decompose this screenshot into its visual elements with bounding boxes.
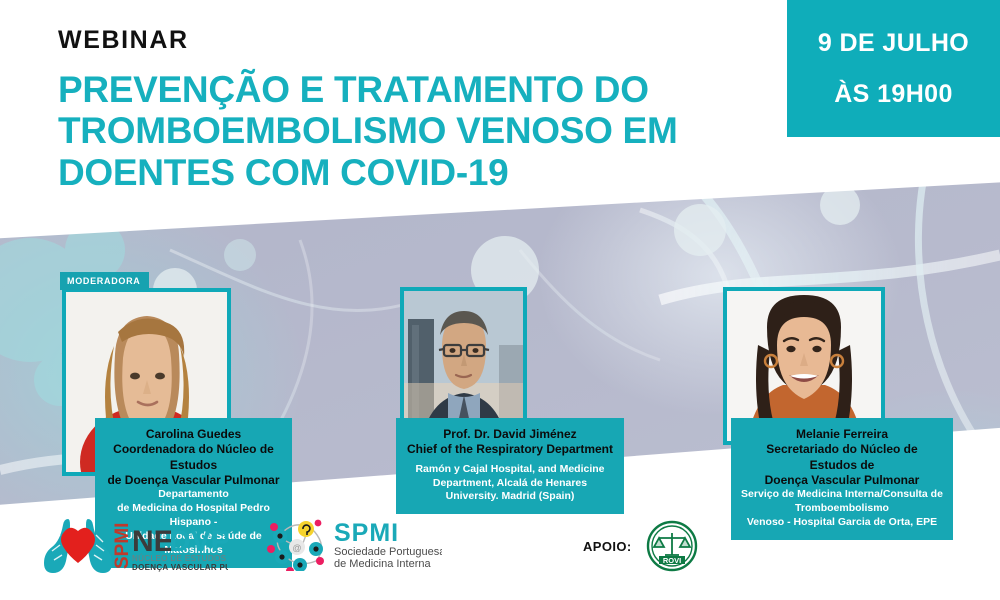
moderadora-badge: MODERADORA	[60, 272, 149, 290]
spmi-tagline-1: Sociedade Portuguesa	[334, 546, 442, 558]
speaker-affiliation-line-3: University. Madrid (Spain)	[406, 490, 614, 504]
speaker-affiliation-line-1: Departamento	[105, 488, 282, 502]
rovi-wordmark: ROVI	[662, 556, 680, 565]
headline-block: WEBINAR PREVENÇÃO E TRATAMENTO DO TROMBO…	[58, 28, 778, 193]
speaker-name: Prof. Dr. David Jiménez	[406, 427, 614, 442]
event-time: ÀS 19H00	[834, 82, 953, 107]
speaker-role-line-1: Secretariado do Núcleo de Estudos de	[741, 442, 943, 473]
speaker-name: Melanie Ferreira	[741, 427, 943, 442]
logo-rovi: ROVI	[646, 520, 698, 572]
apoio-label: APOIO:	[583, 539, 632, 554]
nedvp-tagline-2: DOENÇA VASCULAR PULMONAR	[132, 563, 228, 572]
event-date: 9 DE JULHO	[818, 31, 969, 56]
logo-spmi: @ SPMI Sociedade Portuguesa de Medicina …	[262, 515, 442, 576]
svg-text:@: @	[292, 543, 301, 553]
kicker-label: WEBINAR	[58, 28, 778, 53]
title-line-1: PREVENÇÃO E TRATAMENTO DO	[58, 69, 778, 110]
title-line-2: TROMBOEMBOLISMO VENOSO EM	[58, 110, 778, 151]
spmi-network-icon: @	[267, 520, 324, 571]
logo-nedvp: SPMI NE DVP NÚCLEO DE ESTUDOS DE DOENÇA …	[32, 513, 228, 580]
speaker-affiliation-line-1: Serviço de Medicina Interna/Consulta de	[741, 488, 943, 502]
speaker-affiliation-line-1: Ramón y Cajal Hospital, and Medicine	[406, 463, 614, 477]
speaker-role-line-2: de Doença Vascular Pulmonar	[105, 473, 282, 488]
spmi-acronym: SPMI	[334, 519, 399, 547]
apoio-section: APOIO: ROVI	[583, 520, 698, 572]
speaker-info-david-jimenez: Prof. Dr. David Jiménez Chief of the Res…	[396, 418, 624, 514]
speaker-role-line-2: Doença Vascular Pulmonar	[741, 473, 943, 488]
spmi-tagline-2: de Medicina Interna	[334, 558, 431, 570]
speaker-role-line-1: Coordenadora do Núcleo de Estudos	[105, 442, 282, 473]
title-line-3: DOENTES COM COVID-19	[58, 152, 778, 193]
nedvp-vertical-spmi-text: SPMI	[112, 523, 133, 569]
footer-logos-bar: SPMI NE DVP NÚCLEO DE ESTUDOS DE DOENÇA …	[0, 508, 1000, 600]
speaker-name: Carolina Guedes	[105, 427, 282, 442]
speaker-affiliation-line-2: Department, Alcalá de Henares	[406, 477, 614, 491]
lungs-heart-icon	[44, 519, 112, 573]
page-title: PREVENÇÃO E TRATAMENTO DO TROMBOEMBOLISM…	[58, 69, 778, 193]
date-time-badge: 9 DE JULHO ÀS 19H00	[787, 0, 1000, 137]
webinar-poster: WEBINAR PREVENÇÃO E TRATAMENTO DO TROMBO…	[0, 0, 1000, 600]
speaker-role-line-1: Chief of the Respiratory Department	[406, 442, 614, 457]
nedvp-tagline-1: NÚCLEO DE ESTUDOS DE	[132, 554, 228, 563]
